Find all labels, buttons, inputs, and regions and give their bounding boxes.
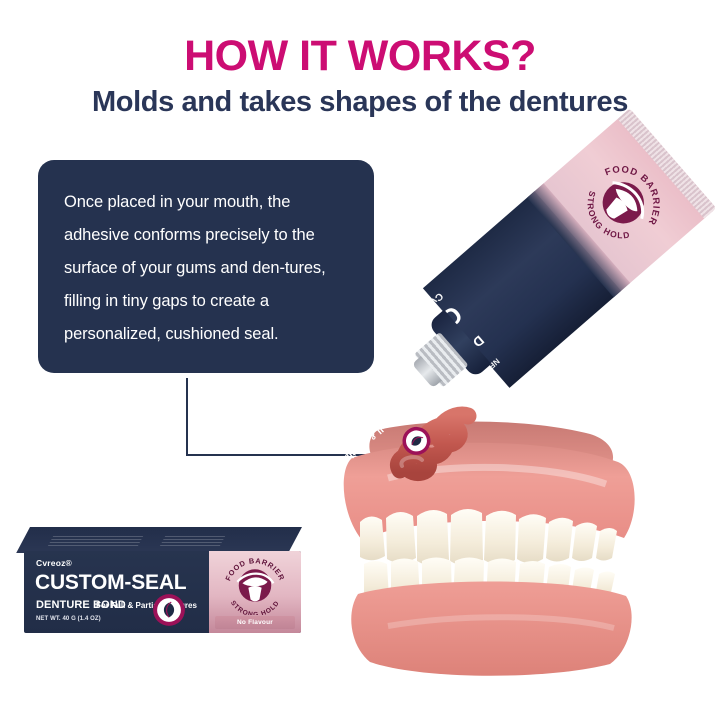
carton-net-weight: NET WT. 40 G (1.4 OZ) [36, 616, 101, 622]
carton-badge-bottom-text: STRONG HOLD [229, 600, 281, 615]
page-title: HOW IT WORKS? [0, 34, 720, 79]
carton-front-face: Cvreoz® CUSTOM-SEAL DENTURE BOND For Ful… [24, 551, 301, 633]
tube-graphic: FOOD BARRIER STRONG HOLD Cvreoz® CUSTOM-… [396, 109, 717, 412]
callout-body-text: Once placed in your mouth, the adhesive … [64, 193, 326, 343]
carton-flavour-band: No Flavour [215, 616, 295, 629]
product-tube: FOOD BARRIER STRONG HOLD Cvreoz® CUSTOM-… [430, 95, 720, 425]
lower-gum [351, 582, 631, 676]
carton-product-name: CUSTOM-SEAL [35, 571, 186, 595]
leader-line-vertical [186, 378, 188, 456]
product-carton: Cvreoz® CUSTOM-SEAL DENTURE BOND For Ful… [24, 527, 307, 637]
infographic-canvas: HOW IT WORKS? Molds and takes shapes of … [0, 0, 720, 720]
food-barrier-badge-carton: FOOD BARRIER STRONG HOLD [217, 553, 293, 615]
carton-fineprint-block-2 [159, 536, 225, 547]
svg-text:STRONG HOLD: STRONG HOLD [229, 600, 281, 615]
callout-textbox: Once placed in your mouth, the adhesive … [38, 160, 374, 373]
carton-top-face [16, 527, 302, 553]
anti-bacterial-badge-carton [152, 593, 186, 627]
carton-fineprint-block-1 [47, 536, 143, 547]
carton-brand: Cvreoz® [36, 558, 72, 568]
